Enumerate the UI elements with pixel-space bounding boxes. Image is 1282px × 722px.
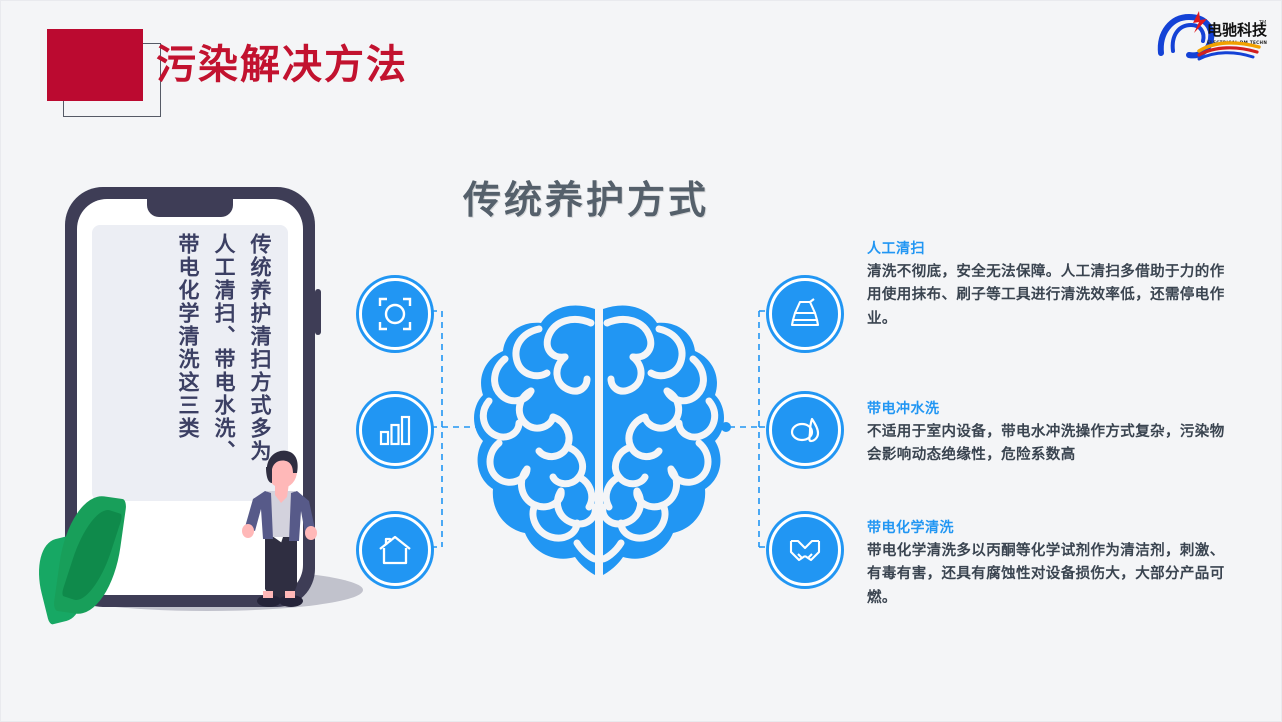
page-title: 污染解决方法	[156, 41, 408, 89]
info-block-manual-sweep: 人工清扫 清洗不彻底，安全无法保障。人工清扫多借助于力的作用使用抹布、刷子等工具…	[867, 241, 1237, 331]
logo-mark: 电驰科技 ELECTRICAL DM TECHNOLOGY TM	[1149, 7, 1267, 63]
info-block-body: 带电化学清洗多以丙酮等化学试剂作为清洁剂，刺激、有毒有害，还具有腐蚀性对设备损伤…	[867, 540, 1237, 610]
broom-layers-icon[interactable]	[769, 278, 841, 350]
svg-text:TM: TM	[1258, 20, 1266, 26]
info-block-title: 人工清扫	[867, 241, 1237, 258]
info-block-water-wash: 带电冲水洗 不适用于室内设备，带电水冲洗操作方式复杂，污染物会影响动态绝缘性，危…	[867, 401, 1237, 468]
company-logo: 电驰科技 ELECTRICAL DM TECHNOLOGY TM	[1149, 7, 1267, 63]
main-heading: 传统养护方式	[463, 169, 709, 224]
svg-text:电驰科技: 电驰科技	[1207, 21, 1267, 39]
phone-text-line-2: 人工清扫、带电水洗、	[213, 233, 234, 501]
brain-icon	[469, 301, 729, 587]
bar-chart-icon[interactable]	[359, 394, 431, 466]
phone-illustration: 传统养护清扫方式多为 人工清扫、带电水洗、 带电化学清洗这三类	[37, 177, 367, 657]
focus-frame-icon[interactable]	[359, 278, 431, 350]
handshake-icon[interactable]	[769, 514, 841, 586]
info-block-body: 不适用于室内设备，带电水冲洗操作方式复杂，污染物会影响动态绝缘性，危险系数高	[867, 421, 1237, 468]
slide-canvas: 污染解决方法 电驰科技 ELECTRICAL DM TECHNOLOGY TM …	[0, 0, 1282, 722]
phone-side-button	[315, 289, 321, 335]
info-block-title: 带电化学清洗	[867, 520, 1237, 537]
person-illustration	[235, 449, 327, 613]
info-block-body: 清洗不彻底，安全无法保障。人工清扫多借助于力的作用使用抹布、刷子等工具进行清洗效…	[867, 261, 1237, 331]
water-drop-icon[interactable]	[769, 394, 841, 466]
house-icon[interactable]	[359, 514, 431, 586]
phone-notch	[147, 199, 233, 217]
info-block-chemical-clean: 带电化学清洗 带电化学清洗多以丙酮等化学试剂作为清洁剂，刺激、有毒有害，还具有腐…	[867, 520, 1237, 610]
header-square-fill	[47, 29, 143, 101]
phone-text-line-3: 带电化学清洗这三类	[177, 233, 198, 501]
info-block-title: 带电冲水洗	[867, 401, 1237, 418]
